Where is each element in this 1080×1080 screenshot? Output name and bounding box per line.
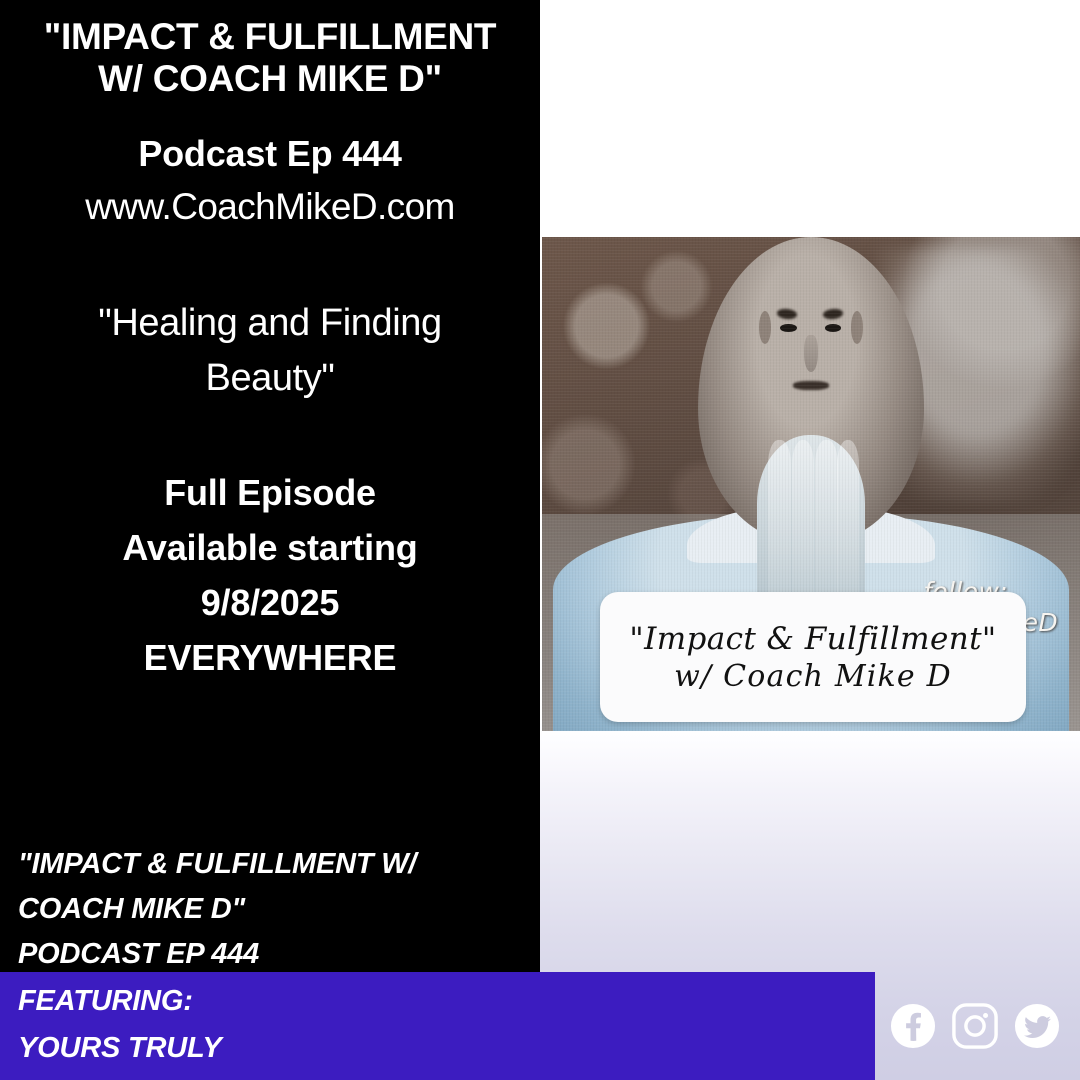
subject-eye-right: [825, 324, 841, 332]
subject-brow-right: [823, 308, 844, 320]
subject-ear-right: [851, 311, 863, 345]
title-card-line-1: "Impact & Fulfillment": [629, 621, 996, 657]
episode-title: "Healing and Finding Beauty": [0, 296, 540, 406]
promo-graphic: follow: @CoachMikeD www.CoachMikeD.com "…: [0, 0, 1080, 1080]
instagram-icon[interactable]: [952, 1003, 998, 1049]
availability-block: Full Episode Available starting 9/8/2025…: [0, 465, 540, 685]
left-text-panel: "IMPACT & FULFILLMENT W/ COACH MIKE D" P…: [0, 0, 540, 1080]
title-card-line-2: w/ Coach Mike D: [674, 659, 952, 694]
subject-nose: [804, 335, 818, 372]
twitter-icon[interactable]: [1014, 1003, 1060, 1049]
podcast-title-card: "Impact & Fulfillment" w/ Coach Mike D: [600, 592, 1026, 722]
show-title: "IMPACT & FULFILLMENT W/ COACH MIKE D": [0, 16, 540, 100]
episode-number: Podcast Ep 444: [0, 133, 540, 175]
subject-eye-left: [780, 324, 796, 332]
facebook-icon[interactable]: [890, 1003, 936, 1049]
subject-ear-left: [759, 311, 771, 345]
social-links: [890, 1002, 1060, 1050]
footer-show-credits: "IMPACT & FULFILLMENT W/ COACH MIKE D" P…: [18, 842, 528, 977]
website-line: www.CoachMikeD.com: [0, 186, 540, 228]
subject-brow-left: [777, 308, 798, 320]
subject-mouth: [793, 381, 829, 390]
featuring-text: FEATURING: YOURS TRULY: [18, 978, 578, 1072]
